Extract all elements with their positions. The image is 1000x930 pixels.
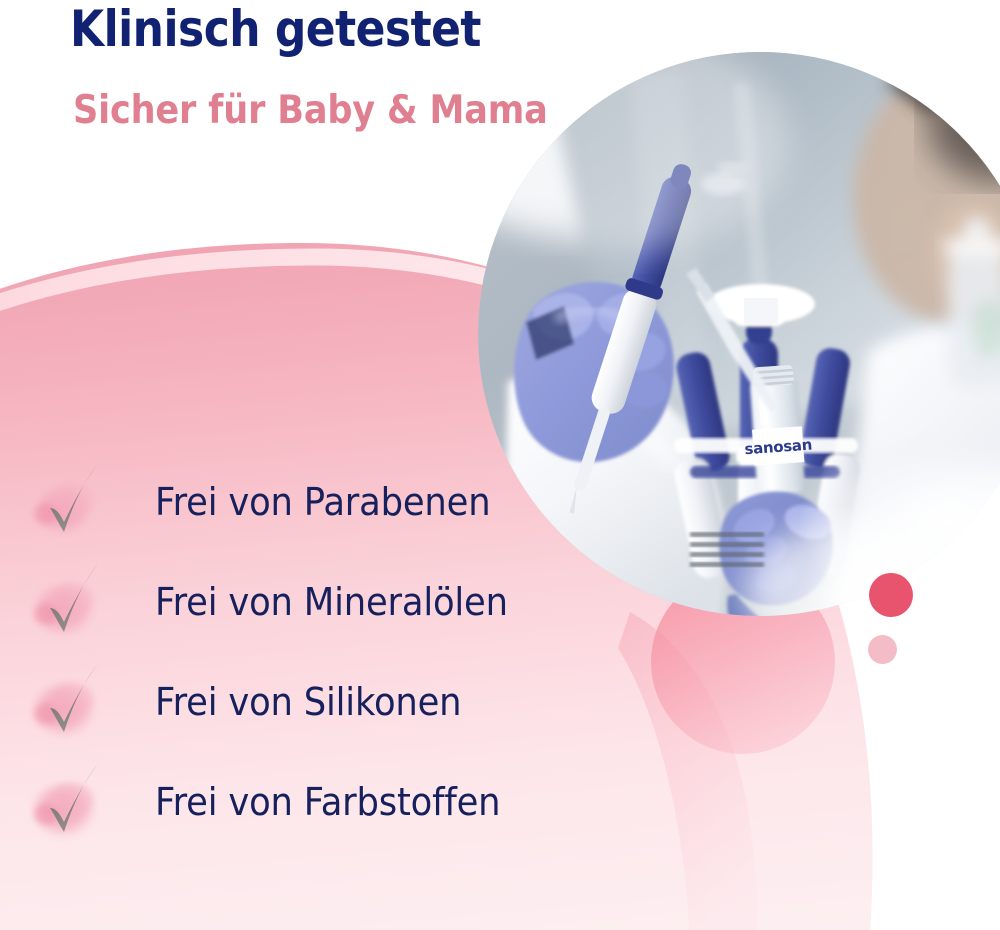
list-item-label: Frei von Farbstoffen bbox=[155, 780, 500, 824]
list-item-label: Frei von Mineralölen bbox=[155, 580, 508, 624]
checkmark-icon bbox=[0, 752, 110, 852]
list-item: Frei von Parabenen bbox=[0, 452, 620, 552]
list-item: Frei von Farbstoffen bbox=[0, 752, 620, 852]
list-item-label: Frei von Silikonen bbox=[155, 680, 461, 724]
accent-dot-small bbox=[868, 635, 897, 664]
checkmark-icon bbox=[0, 552, 110, 652]
accent-dot-large bbox=[869, 573, 913, 617]
blob-tail-sweep bbox=[618, 612, 758, 930]
checkmark-icon bbox=[0, 652, 110, 752]
list-item-label: Frei von Parabenen bbox=[155, 480, 490, 524]
benefit-list: Frei von Parabenen Frei von Mineralölen bbox=[0, 452, 620, 852]
page-title: Klinisch getestet bbox=[70, 2, 481, 56]
list-item: Frei von Mineralölen bbox=[0, 552, 620, 652]
promo-banner: sanosan bbox=[0, 0, 1000, 930]
checkmark-icon bbox=[0, 452, 110, 552]
list-item: Frei von Silikonen bbox=[0, 652, 620, 752]
page-subtitle: Sicher für Baby & Mama bbox=[73, 90, 548, 132]
